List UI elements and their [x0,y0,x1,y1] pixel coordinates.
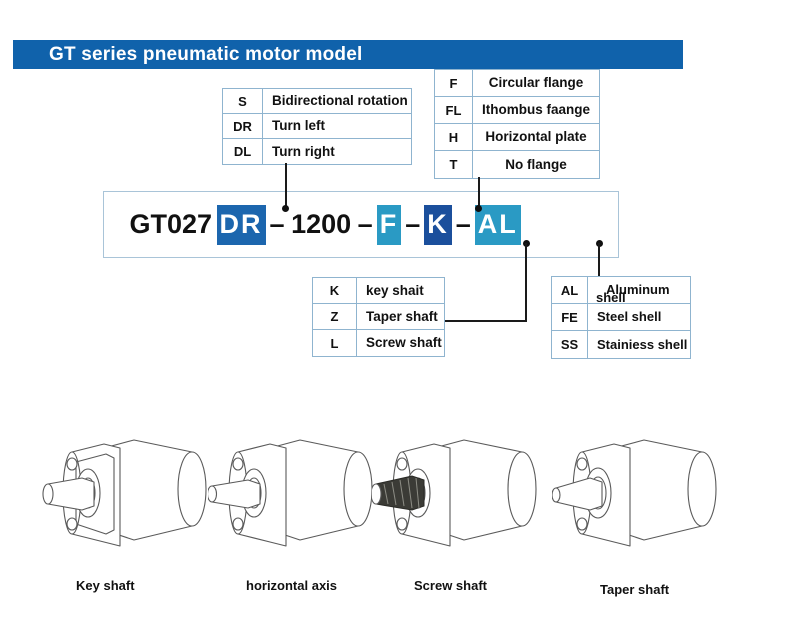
gallery-caption: Screw shaft [414,578,487,593]
page-title: GT series pneumatic motor model [13,44,362,66]
shell-legend-table: AL Aluminum FE Steel shell SS Stainiess … [551,276,691,359]
row-code: T [435,151,473,178]
table-row: DR Turn left [223,114,411,139]
row-description: No flange [473,151,599,178]
separator-2: – [355,209,376,240]
connector-dot-rotation [282,205,289,212]
row-code: DL [223,139,263,164]
row-code: F [435,70,473,96]
row-code: K [313,278,357,303]
row-description: Bidirectional rotation [263,89,411,113]
table-row: S Bidirectional rotation [223,89,411,114]
motor-key-shaft-icon [42,418,217,568]
table-row: H Horizontal plate [435,124,599,151]
model-shell-code[interactable]: AL [475,205,521,245]
connector-dot-flange [475,205,482,212]
row-description: Steel shell [588,304,690,330]
table-row: T No flange [435,151,599,178]
row-description: Stainiess shell [588,331,690,358]
row-description: Taper shaft [357,304,444,329]
row-code: FE [552,304,588,330]
gallery-caption: horizontal axis [246,578,337,593]
row-code: FL [435,97,473,123]
model-size-code: 1200 [288,209,355,240]
gallery-caption: Key shaft [76,578,135,593]
row-code: SS [552,331,588,358]
row-description: Turn left [263,114,411,138]
connector-shaft-horizontal [445,320,527,322]
row-code: AL [552,277,588,303]
row-description: Ithombus faange [473,97,599,123]
gallery-caption: Taper shaft [600,582,669,597]
connector-rotation [285,163,287,208]
model-prefix: GT027 [126,209,216,240]
table-row: F Circular flange [435,70,599,97]
table-row: K key shait [313,278,444,304]
table-row: Z Taper shaft [313,304,444,330]
connector-shell [598,243,600,277]
row-description: Screw shaft [357,330,444,356]
table-row: DL Turn right [223,139,411,164]
row-code: H [435,124,473,150]
row-description: Circular flange [473,70,599,96]
row-description: Horizontal plate [473,124,599,150]
shell-row-description-line2: shell [596,290,626,305]
separator-1: – [267,209,288,240]
model-number-string: GT027DR–1200–F–K–AL [103,191,619,258]
table-row: SS Stainiess shell [552,331,690,358]
motor-screw-shaft-icon [372,418,547,568]
diagram-canvas: GT series pneumatic motor model S Bidire… [0,0,790,633]
separator-4: – [453,209,474,240]
table-row: L Screw shaft [313,330,444,356]
motor-horizontal-axis-icon [208,418,383,568]
row-code: S [223,89,263,113]
row-code: Z [313,304,357,329]
row-description: Turn right [263,139,411,164]
connector-shaft-vertical [525,243,527,321]
table-row: FL Ithombus faange [435,97,599,124]
model-rotation-code[interactable]: DR [217,205,266,245]
row-code: L [313,330,357,356]
table-row: FE Steel shell [552,304,690,331]
model-flange-code[interactable]: F [377,205,402,245]
shaft-legend-table: K key shait Z Taper shaft L Screw shaft [312,277,445,357]
row-code: DR [223,114,263,138]
header-bar: GT series pneumatic motor model [13,40,683,69]
separator-3: – [402,209,423,240]
row-description: key shait [357,278,444,303]
rotation-legend-table: S Bidirectional rotation DR Turn left DL… [222,88,412,165]
flange-legend-table: F Circular flange FL Ithombus faange H H… [434,69,600,179]
model-shaft-code[interactable]: K [424,205,452,245]
motor-taper-shaft-icon [552,418,727,568]
